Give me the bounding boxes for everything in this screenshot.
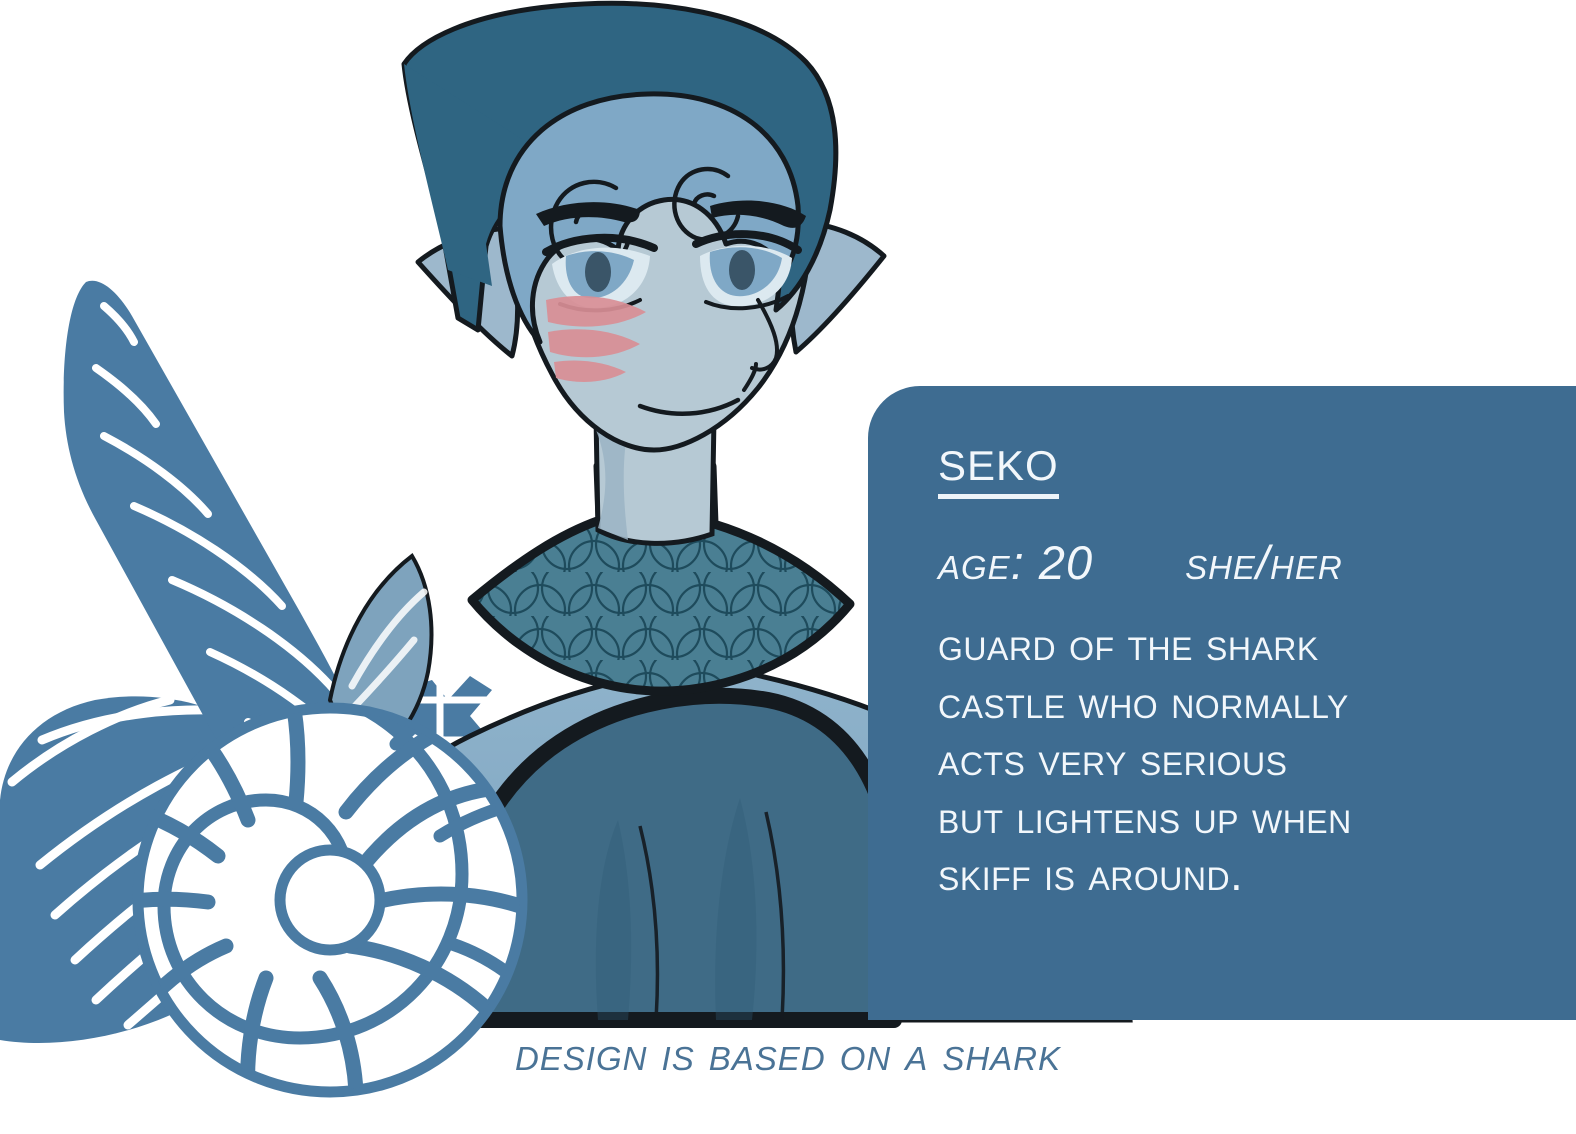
character-pronouns: She/Her <box>1185 539 1343 586</box>
design-caption: Design is based on a Shark <box>0 1030 1576 1077</box>
description-line: acts very serious <box>938 731 1536 789</box>
description-line: Guard of the Shark <box>938 616 1536 674</box>
character-description: Guard of the Shark Castle who normally a… <box>938 616 1536 904</box>
info-panel: Seko Age: 20 She/Her Guard of the Shark … <box>868 386 1576 1020</box>
character-meta-row: Age: 20 She/Her <box>938 539 1536 586</box>
character-age: Age: 20 <box>938 539 1093 586</box>
character-name: Seko <box>938 430 1059 499</box>
character-card: Seko Age: 20 She/Her Guard of the Shark … <box>0 0 1576 1134</box>
description-line: but lightens up when <box>938 789 1536 847</box>
description-line: Skiff is around. <box>938 846 1536 904</box>
design-caption-text: Design is based on a Shark <box>515 1030 1061 1077</box>
description-line: Castle who normally <box>938 674 1536 732</box>
